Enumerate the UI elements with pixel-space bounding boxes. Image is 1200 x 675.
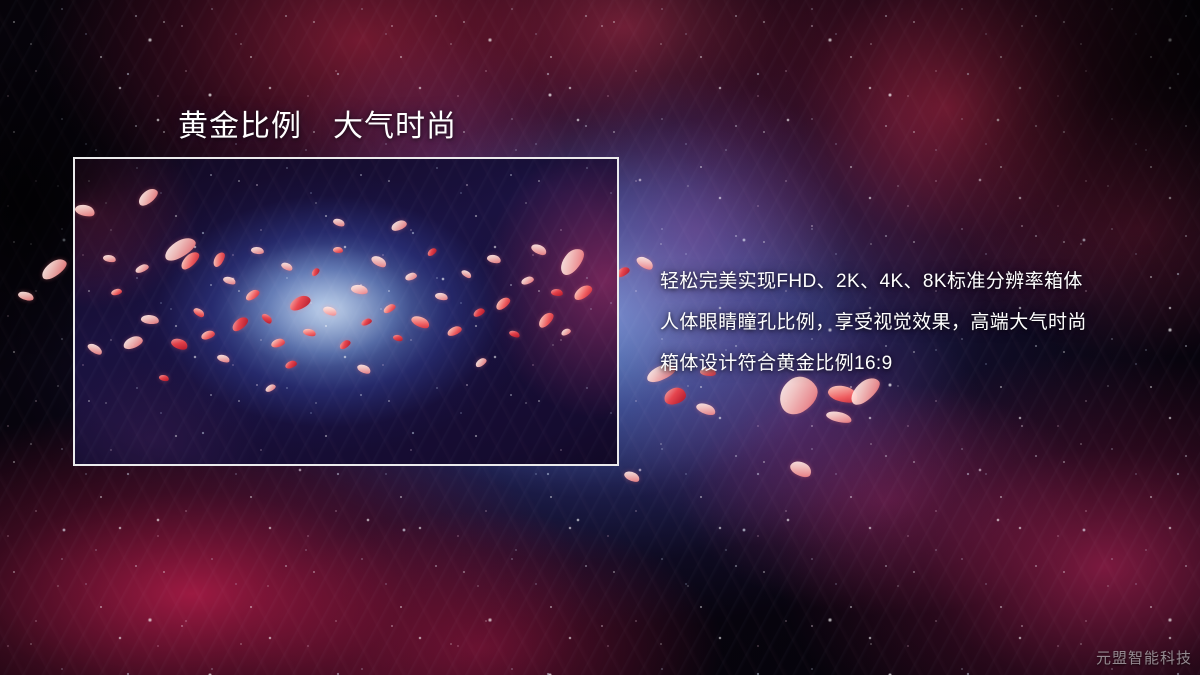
framed-preview-image xyxy=(73,157,619,466)
petal-shape xyxy=(38,256,69,283)
body-line-2: 人体眼睛瞳孔比例，享受视觉效果，高端大气时尚 xyxy=(660,302,1160,343)
presentation-slide: 黄金比例 大气时尚 轻松完美实现FHD、2K、4K、8K标准分辨率箱体 人体眼睛… xyxy=(0,0,1200,675)
framed-vignette xyxy=(75,159,617,464)
framed-image-inner xyxy=(75,159,617,464)
petal-shape xyxy=(788,457,814,480)
petal-shape xyxy=(623,469,641,484)
petal-shape xyxy=(635,254,655,273)
petal-shape xyxy=(663,386,688,406)
body-line-1: 轻松完美实现FHD、2K、4K、8K标准分辨率箱体 xyxy=(660,261,1160,302)
watermark-label: 元盟智能科技 xyxy=(1096,647,1192,668)
petal-shape xyxy=(695,400,717,417)
petal-shape xyxy=(825,409,853,426)
slide-title: 黄金比例 大气时尚 xyxy=(178,101,457,145)
slide-body-text: 轻松完美实现FHD、2K、4K、8K标准分辨率箱体 人体眼睛瞳孔比例，享受视觉效… xyxy=(660,261,1160,384)
petal-shape xyxy=(17,290,35,303)
body-line-3: 箱体设计符合黄金比例16:9 xyxy=(660,343,1160,384)
